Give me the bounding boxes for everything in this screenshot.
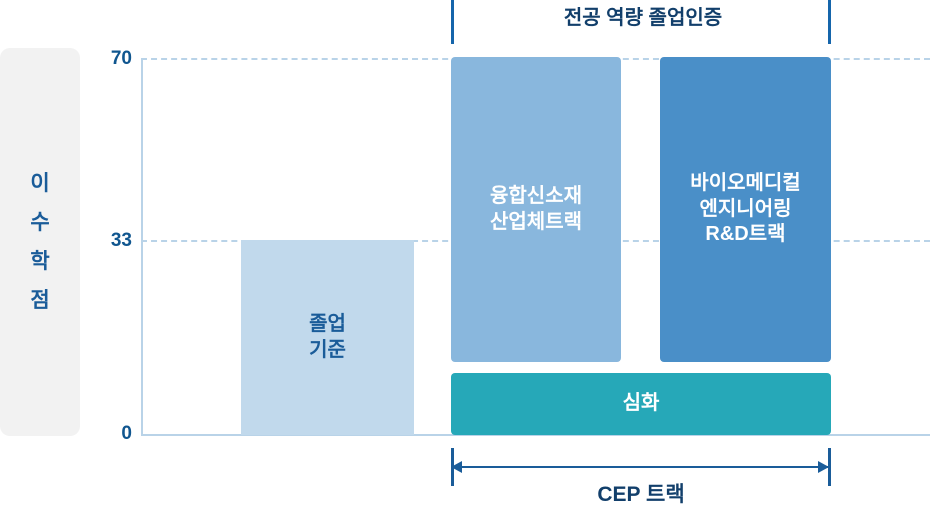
y-axis-title-char-1: 이 — [30, 173, 49, 194]
bar-label-line-2: 엔지니어링 — [690, 197, 800, 223]
bar-track-biomedical-rnd[interactable]: 바이오메디컬 엔지니어링 R&D트랙 — [660, 57, 831, 362]
cep-range-arrow-line — [453, 466, 829, 468]
bar-label-line-2: 기준 — [309, 338, 346, 364]
y-tick-label-70: 70 — [72, 49, 132, 68]
bar-deepening-segment[interactable]: 심화 — [451, 373, 831, 435]
y-axis-title-char-4: 점 — [30, 290, 49, 311]
bar-track-advanced-materials-label: 융합신소재 산업체트랙 — [490, 184, 582, 235]
y-axis-title-box: 이 수 학 점 — [0, 48, 80, 436]
bar-track-biomedical-rnd-label: 바이오메디컬 엔지니어링 R&D트랙 — [690, 171, 800, 248]
y-axis-line — [141, 58, 143, 436]
y-axis-title-vertical: 이 수 학 점 — [30, 173, 49, 311]
cep-track-label: CEP 트랙 — [451, 484, 831, 505]
chart-canvas: 이 수 학 점 70 33 0 전공 역량 졸업인증 졸업 기준 융합신소재 산… — [0, 0, 930, 515]
bar-label-line-1: 졸업 — [309, 312, 346, 338]
chart-header-label: 전공 역량 졸업인증 — [460, 8, 826, 28]
bar-graduation-standard[interactable]: 졸업 기준 — [241, 240, 414, 435]
top-bracket-tick-right — [828, 0, 831, 44]
bar-label-line-1: 바이오메디컬 — [690, 171, 800, 197]
y-tick-label-33: 33 — [72, 231, 132, 250]
arrow-left-icon — [451, 461, 462, 473]
bar-deepening-label: 심화 — [623, 391, 660, 417]
bar-label-line-3: R&D트랙 — [690, 222, 800, 248]
bar-label-line-1: 융합신소재 — [490, 184, 582, 210]
bar-graduation-standard-label: 졸업 기준 — [309, 312, 346, 363]
y-axis-title-char-3: 학 — [30, 251, 49, 272]
top-bracket-tick-left — [451, 0, 454, 44]
y-axis-title-char-2: 수 — [30, 212, 49, 233]
arrow-right-icon — [818, 461, 829, 473]
bar-label-line-2: 산업체트랙 — [490, 210, 582, 236]
bar-track-advanced-materials[interactable]: 융합신소재 산업체트랙 — [451, 57, 621, 362]
y-tick-label-0: 0 — [72, 424, 132, 443]
